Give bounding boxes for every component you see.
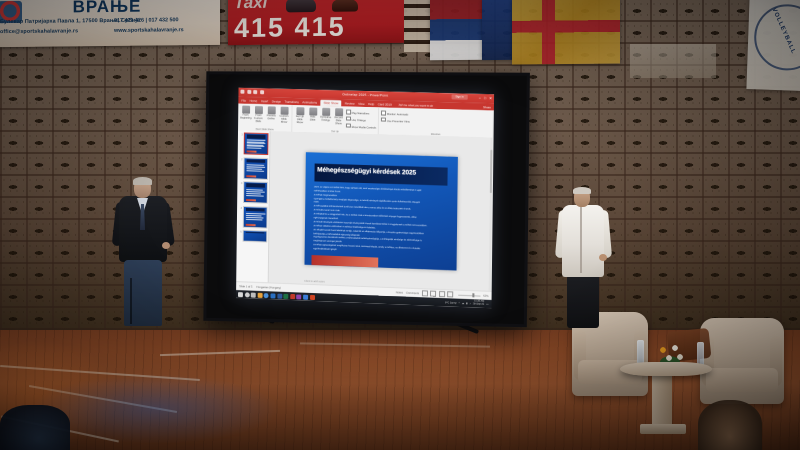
serbian-flag <box>430 0 482 60</box>
tab-animations[interactable]: Animations <box>302 100 317 104</box>
armchair-seat <box>706 368 778 392</box>
slide-thumbnail-5[interactable]: 5 <box>238 230 268 243</box>
thumb-number: 3 <box>238 181 242 203</box>
thumb-title-block <box>245 231 264 233</box>
taxi-word: Taxi <box>234 0 267 13</box>
thumb-footer-bar <box>246 151 256 153</box>
play-narrations-label: Play Narrations <box>352 112 370 115</box>
audience-head-right <box>698 400 762 450</box>
set-up-slide-show-button[interactable]: Set Up Slide Show <box>294 106 305 125</box>
venue-email: office@sportskahalavranje.rs <box>0 28 78 35</box>
thumb-footer-bar <box>246 175 256 177</box>
hair <box>133 177 152 185</box>
language-indicator[interactable]: Hungarian (Hungary) <box>256 285 281 289</box>
chrome-icon[interactable] <box>264 293 269 298</box>
hide-slide-label: Hide Slide <box>310 115 316 121</box>
photo-scene: ВРАЊЕ Булевар Патријарха Павла 1, 17500 … <box>0 0 800 450</box>
ribbon-group-set-up: Set Up Slide Show Hide Slide Rehearse Ti… <box>292 105 379 134</box>
hand <box>599 254 607 261</box>
play-current-icon <box>254 106 262 114</box>
powerpoint-window: Onlinelap 2025 - PowerPoint Sign in – □ … <box>236 88 494 308</box>
from-current-slide-button[interactable]: From Current Slide <box>253 105 264 124</box>
trousers <box>567 275 599 328</box>
powerpoint-body: 1 2 <box>236 130 493 292</box>
slide-sorter-icon[interactable] <box>430 290 436 296</box>
from-beginning-button[interactable]: From Beginning <box>240 105 251 121</box>
thumb-title-block <box>246 183 265 187</box>
slide-indicator: Slide 1 of 5 <box>239 285 252 288</box>
ribbon-group-monitors: Monitor: Automatic Use Presenter View Mo… <box>379 107 494 137</box>
taxi-number: 415 415 <box>234 14 346 43</box>
rehearse-label: Rehearse Timings <box>320 116 331 122</box>
record-label: Record Slide Show <box>334 116 342 125</box>
present-online-button[interactable]: Present Online <box>266 105 277 121</box>
thumb-title-block <box>247 135 266 139</box>
thumb-title-block <box>246 208 265 212</box>
thumb-title-block <box>246 159 265 163</box>
table-base <box>640 424 686 434</box>
share-button[interactable]: Share <box>483 105 491 109</box>
present-online-icon <box>267 106 275 114</box>
presenter-view-label: Use Presenter View <box>387 120 410 124</box>
play-narrations-checkbox[interactable]: Play Narrations <box>346 109 376 115</box>
slide-thumbnail-3[interactable]: 3 <box>238 181 268 204</box>
custom-show-icon <box>280 107 288 115</box>
use-timings-checkbox[interactable]: Use Timings <box>346 116 376 122</box>
network-icon[interactable]: ▮ <box>466 302 467 305</box>
zoom-level[interactable]: 62% <box>483 294 488 297</box>
clock-date: 29-Sep-25 <box>473 302 484 305</box>
sign-in-button[interactable]: Sign in <box>451 94 467 99</box>
venue-website: www.sportskahalavranje.rs <box>114 27 184 34</box>
white-shirt <box>562 205 604 277</box>
notes-button[interactable]: Notes <box>396 291 403 294</box>
tab-transitions[interactable]: Transitions <box>284 99 298 103</box>
thumb-preview <box>243 157 268 180</box>
use-presenter-view-checkbox[interactable]: Use Presenter View <box>381 117 410 123</box>
thumb-number: 4 <box>238 205 242 227</box>
pdf-icon[interactable] <box>290 294 295 299</box>
thumb-number: 5 <box>238 230 242 242</box>
outlook-icon[interactable] <box>270 293 275 298</box>
current-slide[interactable]: Méhegészségügyi kérdések 2025 2024. év v… <box>304 152 457 270</box>
hide-slide-button[interactable]: Hide Slide <box>307 106 318 122</box>
canvas-scrollbar[interactable] <box>488 138 492 292</box>
thumb-preview <box>243 230 268 243</box>
from-beginning-label: From Beginning <box>240 114 251 120</box>
tab-review[interactable]: Review <box>345 101 355 105</box>
thumb-preview <box>244 132 269 155</box>
audience-head-left <box>0 405 70 450</box>
taxi-car-graphic <box>286 0 316 12</box>
ribbon-group-start-slide-show: From Beginning From Current Slide Presen… <box>238 103 293 131</box>
weather-indicator[interactable]: 9°C Sunny <box>445 301 457 304</box>
armchair-right <box>700 318 784 404</box>
setup-show-label: Set Up Slide Show <box>296 115 304 124</box>
custom-slide-show-button[interactable]: Custom Slide Show <box>279 106 290 125</box>
coffee-table <box>620 362 712 376</box>
thumb-footer-bar <box>246 199 256 201</box>
thumb-footer-bar <box>246 224 256 226</box>
slide-footer-bar <box>312 255 379 268</box>
start-icon[interactable] <box>238 292 243 297</box>
task-view-icon[interactable] <box>251 292 256 297</box>
slide-thumbnail-2[interactable]: 2 <box>238 157 268 180</box>
onedrive-icon[interactable]: ☁ <box>462 301 464 304</box>
explorer2-icon[interactable] <box>303 294 308 299</box>
minimize-icon[interactable]: – <box>479 96 481 100</box>
wall-pillar <box>404 0 430 52</box>
zoom-slider[interactable] <box>458 294 480 296</box>
tab-insert[interactable]: Insert <box>261 99 268 103</box>
tab-view[interactable]: View <box>358 101 364 105</box>
slide-thumbnail-1[interactable]: 1 <box>239 132 269 155</box>
venue-phone: 017 421 426 | 017 432 500 <box>114 17 178 24</box>
search-icon[interactable] <box>244 292 249 297</box>
thumb-number: 1 <box>239 132 243 154</box>
record-slide-show-button[interactable]: Record Slide Show <box>333 107 344 126</box>
monitors-checkbox-column[interactable]: Monitor: Automatic Use Presenter View <box>381 108 410 123</box>
leg-gap <box>130 278 132 324</box>
tab-file[interactable]: File <box>241 98 246 102</box>
tab-home[interactable]: Home <box>250 98 258 102</box>
file-explorer-icon[interactable] <box>257 292 262 297</box>
slide-show-icon[interactable] <box>447 291 453 297</box>
tab-help[interactable]: Help <box>368 102 374 106</box>
notifications-icon[interactable]: ▭ <box>486 302 488 305</box>
setup-checkbox-column[interactable]: Play Narrations Use Timings Show Media C… <box>346 107 376 129</box>
slide-body-text[interactable]: 2024. év végére ezt kellett látni, hogy … <box>313 186 448 257</box>
venue-title: ВРАЊЕ <box>0 0 220 18</box>
volleyball-banner: VOLLEYBALL <box>746 0 800 91</box>
rehearse-timings-button[interactable]: Rehearse Timings <box>320 107 331 123</box>
presenter-in-white-shirt <box>556 188 612 328</box>
table-stem <box>652 374 672 426</box>
wall-poster <box>630 44 716 78</box>
tab-slide-show[interactable]: Slide Show <box>320 99 341 106</box>
taskbar-clock[interactable]: 11:36 AM 29-Sep-25 <box>473 301 484 307</box>
powerpoint-icon[interactable] <box>310 294 315 299</box>
maximize-icon[interactable]: □ <box>484 96 486 100</box>
slide-canvas[interactable]: Méhegészségügyi kérdések 2025 2024. év v… <box>269 131 494 292</box>
thumb-preview <box>243 205 268 228</box>
taxi-banner: Taxi 415 415 <box>228 0 404 45</box>
tab-design[interactable]: Design <box>272 99 281 103</box>
volume-icon[interactable]: ♪ <box>470 302 471 305</box>
tab-card2019[interactable]: Card 2019 <box>378 102 392 106</box>
media-icon[interactable] <box>297 294 302 299</box>
normal-view-icon[interactable] <box>422 290 428 296</box>
close-icon[interactable]: ✕ <box>489 96 492 100</box>
record-icon <box>335 108 343 116</box>
thumb-preview <box>243 181 268 204</box>
slide-thumbnail-4[interactable]: 4 <box>238 205 268 228</box>
show-media-controls-checkbox[interactable]: Show Media Controls <box>346 123 376 129</box>
setup-show-icon <box>296 107 304 115</box>
cross-flag <box>512 0 620 64</box>
monitor-select[interactable]: Monitor: Automatic <box>381 110 410 116</box>
blue-flag <box>482 0 512 60</box>
hair <box>573 187 591 194</box>
window-controls[interactable]: – □ ✕ <box>479 96 492 100</box>
thumb-number: 2 <box>238 157 242 179</box>
tell-me-search[interactable]: Tell me what you want to do <box>398 102 433 107</box>
play-from-start-icon <box>242 106 250 114</box>
hide-slide-icon <box>309 107 317 115</box>
venue-banner: ВРАЊЕ Булевар Патријарха Павла 1, 17500 … <box>0 0 220 47</box>
show-media-controls-label: Show Media Controls <box>351 126 376 130</box>
slide-thumbnail-panel[interactable]: 1 2 <box>236 130 270 283</box>
use-timings-label: Use Timings <box>352 119 366 122</box>
presentation-display: Onlinelap 2025 - PowerPoint Sign in – □ … <box>203 71 530 327</box>
monitor-label: Monitor: Automatic <box>387 113 409 117</box>
word-icon[interactable] <box>277 293 282 298</box>
comments-button[interactable]: Comments <box>406 291 419 295</box>
present-online-label: Present Online <box>267 114 276 120</box>
presenter-in-dark-suit <box>112 178 174 326</box>
hand <box>162 242 170 249</box>
shirt-placket <box>580 207 582 273</box>
rehearse-icon <box>322 108 330 116</box>
system-tray[interactable]: 9°C Sunny ^ ☁ ▮ ♪ 11:36 AM 29-Sep-25 ▭ <box>445 300 489 307</box>
display-screen: Onlinelap 2025 - PowerPoint Sign in – □ … <box>236 88 494 308</box>
excel-icon[interactable] <box>283 293 288 298</box>
chevron-up-icon[interactable]: ^ <box>459 301 460 304</box>
from-current-label: From Current Slide <box>254 114 263 123</box>
custom-show-label: Custom Slide Show <box>280 115 289 124</box>
taxi-car-graphic-2 <box>332 0 358 12</box>
reading-view-icon[interactable] <box>439 290 445 296</box>
